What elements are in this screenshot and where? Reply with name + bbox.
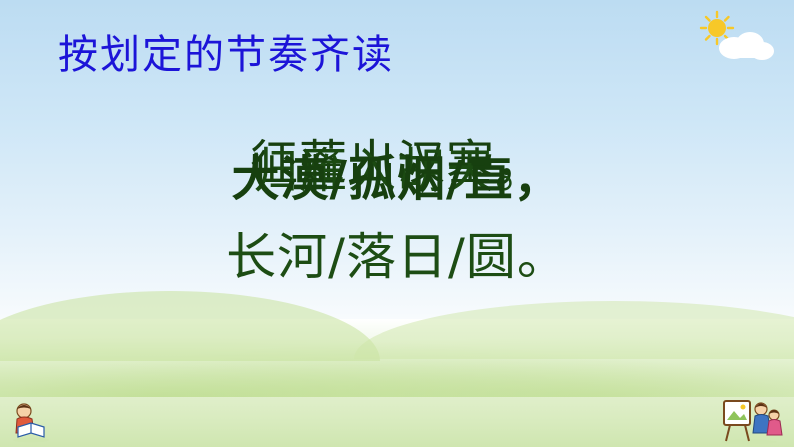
page-title: 按划定的节奏齐读 (58, 22, 394, 80)
hill-right (354, 301, 794, 359)
slide-canvas: 按划定的节奏齐读 征蓬出汉塞， 归雁入胡天。 大漠/孤烟/直， 长河/落日/圆。 (0, 0, 794, 447)
poem-line-overlap-3: 大漠/孤烟/直， (0, 150, 794, 208)
reading-child-icon (8, 399, 54, 443)
cloud-icon (719, 32, 774, 60)
poem-block: 征蓬出汉塞， 归雁入胡天。 大漠/孤烟/直， 长河/落日/圆。 (0, 128, 794, 308)
poem-line-bottom: 长河/落日/圆。 (0, 228, 794, 286)
easel-children-icon (714, 393, 784, 445)
weather-decoration (684, 8, 776, 66)
